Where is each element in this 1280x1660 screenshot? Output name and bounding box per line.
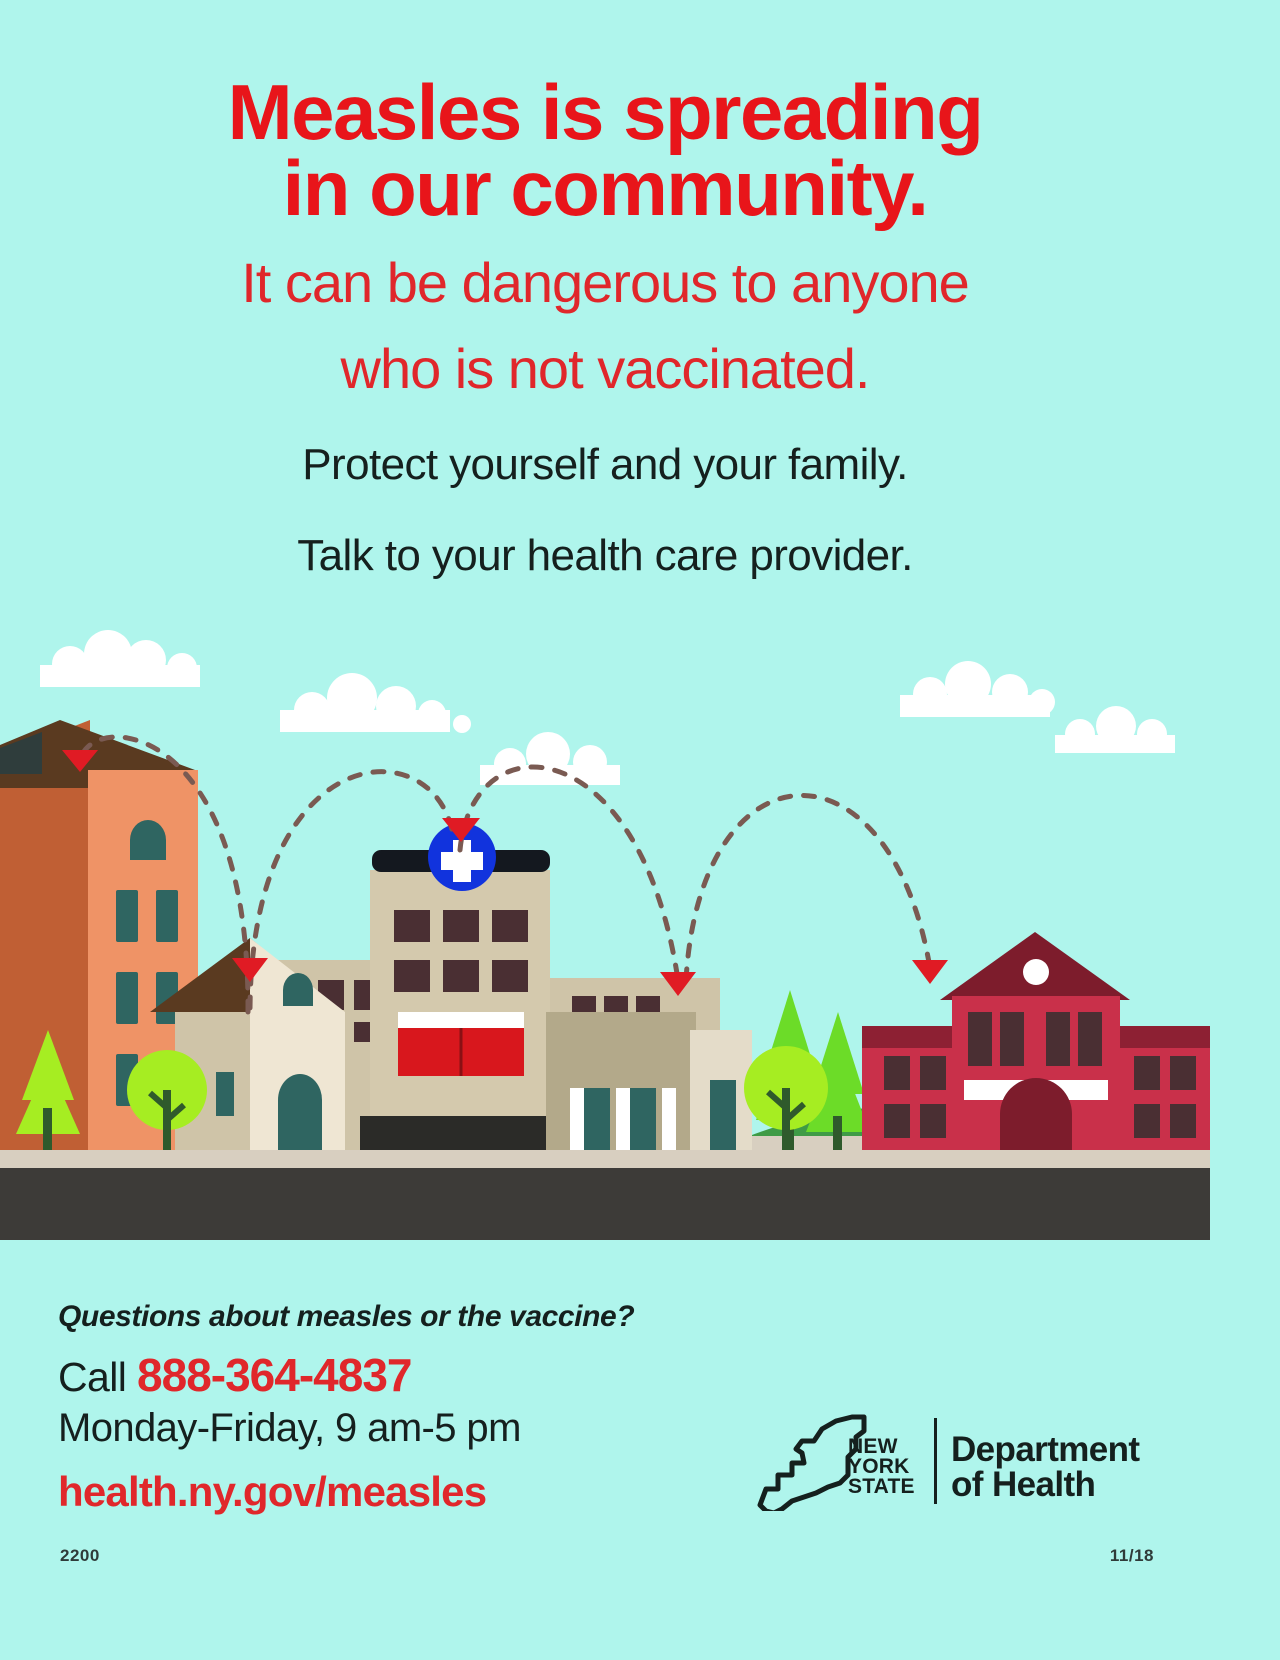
- hospital-plinth: [360, 1116, 560, 1150]
- logo-divider: [934, 1418, 937, 1504]
- house-door: [278, 1074, 322, 1150]
- house-attic-window: [283, 973, 313, 1006]
- footer-contact-block: Questions about measles or the vaccine? …: [0, 1240, 1210, 1660]
- hospital-entrance-awning: [398, 1012, 524, 1028]
- logo-state-words: NEW YORK STATE: [848, 1437, 915, 1497]
- body-line-1: Protect yourself and your family.: [0, 438, 1210, 492]
- office-windows: [570, 1080, 736, 1150]
- phone-number[interactable]: 888-364-4837: [137, 1349, 411, 1401]
- road: [0, 1168, 1210, 1240]
- body-line-2: Talk to your health care provider.: [0, 529, 1210, 583]
- call-label: Call: [58, 1354, 126, 1400]
- revision-date-code: 11/18: [1110, 1546, 1154, 1566]
- headline-block: Measles is spreading in our community. I…: [0, 74, 1210, 583]
- logo-state-line-3: STATE: [848, 1477, 915, 1497]
- questions-prompt: Questions about measles or the vaccine?: [58, 1300, 634, 1334]
- nys-department-of-health-logo: NEW YORK STATE Department of Health: [752, 1390, 1152, 1510]
- logo-state-line-1: NEW: [848, 1437, 915, 1457]
- community-illustration: [0, 560, 1210, 1240]
- subheadline-line-2: who is not vaccinated.: [0, 339, 1210, 399]
- logo-department-name: Department of Health: [951, 1432, 1139, 1510]
- logo-state-line-2: YORK: [848, 1457, 915, 1477]
- school-arched-entrance: [1000, 1078, 1072, 1150]
- website-url[interactable]: health.ny.gov/measles: [58, 1468, 486, 1516]
- new-york-state-outline-icon: NEW YORK STATE: [752, 1395, 932, 1505]
- headline-line-1: Measles is spreading: [0, 74, 1210, 150]
- publication-code: 2200: [60, 1546, 100, 1566]
- school-clock: [1023, 959, 1049, 985]
- house-side-window: [216, 1072, 234, 1116]
- logo-dept-line-2: of Health: [951, 1467, 1139, 1502]
- call-line: Call 888-364-4837: [58, 1348, 412, 1402]
- headline-line-2: in our community.: [0, 150, 1210, 226]
- measles-public-health-poster: Measles is spreading in our community. I…: [0, 0, 1280, 1660]
- subheadline-line-1: It can be dangerous to anyone: [0, 253, 1210, 313]
- logo-dept-line-1: Department: [951, 1432, 1139, 1467]
- office-hours: Monday-Friday, 9 am-5 pm: [58, 1406, 521, 1451]
- apartment-arch-window: [130, 820, 166, 860]
